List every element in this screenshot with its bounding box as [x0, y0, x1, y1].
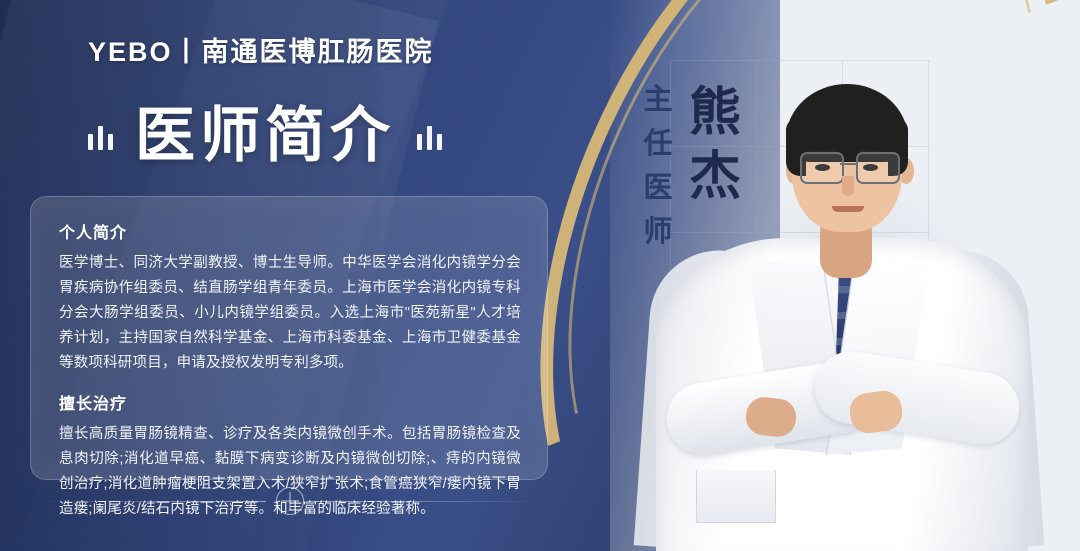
section-heading-specialty: 擅长治疗 [59, 390, 521, 414]
coat-pocket [696, 470, 776, 523]
nose [842, 176, 854, 196]
doctor-role-vertical: 主任医师 [640, 78, 678, 254]
mouth [832, 206, 864, 212]
left-lens [800, 152, 844, 184]
doctor-name-vertical: 熊杰 [684, 82, 746, 210]
tick-mark [108, 134, 113, 150]
tick-mark [88, 134, 93, 150]
tick-mark [437, 134, 442, 150]
divider-line-right [314, 501, 540, 502]
tick-mark [427, 126, 432, 150]
tick-mark [98, 126, 103, 150]
section-heading-personal: 个人简介 [59, 219, 521, 243]
section-body-personal: 医学博士、同济大学副教授、博士生导师。中华医学会消化内镜学分会胃疾病协作组委员、… [59, 251, 521, 376]
page-title: 医师简介 [88, 106, 442, 166]
tick-mark [417, 134, 422, 150]
divider-line-left [40, 501, 266, 502]
page-title-text: 医师简介 [135, 106, 395, 166]
right-lens [856, 152, 900, 184]
bio-card: 个人简介 医学博士、同济大学副教授、博士生导师。中华医学会消化内镜学分会胃疾病协… [30, 196, 548, 480]
brand-title: YEBO丨南通医博肛肠医院 [88, 30, 434, 69]
glasses-bridge [840, 163, 856, 165]
hair [786, 84, 908, 162]
bottom-divider [40, 488, 540, 514]
poster-canvas: YEBO丨南通医博肛肠医院 医师简介 个人简介 医学博士、同济大学副教授、博士生… [0, 0, 1080, 551]
cross-emblem-icon [276, 487, 304, 515]
tick-marks-left-icon [88, 116, 113, 156]
tick-marks-right-icon [417, 116, 442, 156]
